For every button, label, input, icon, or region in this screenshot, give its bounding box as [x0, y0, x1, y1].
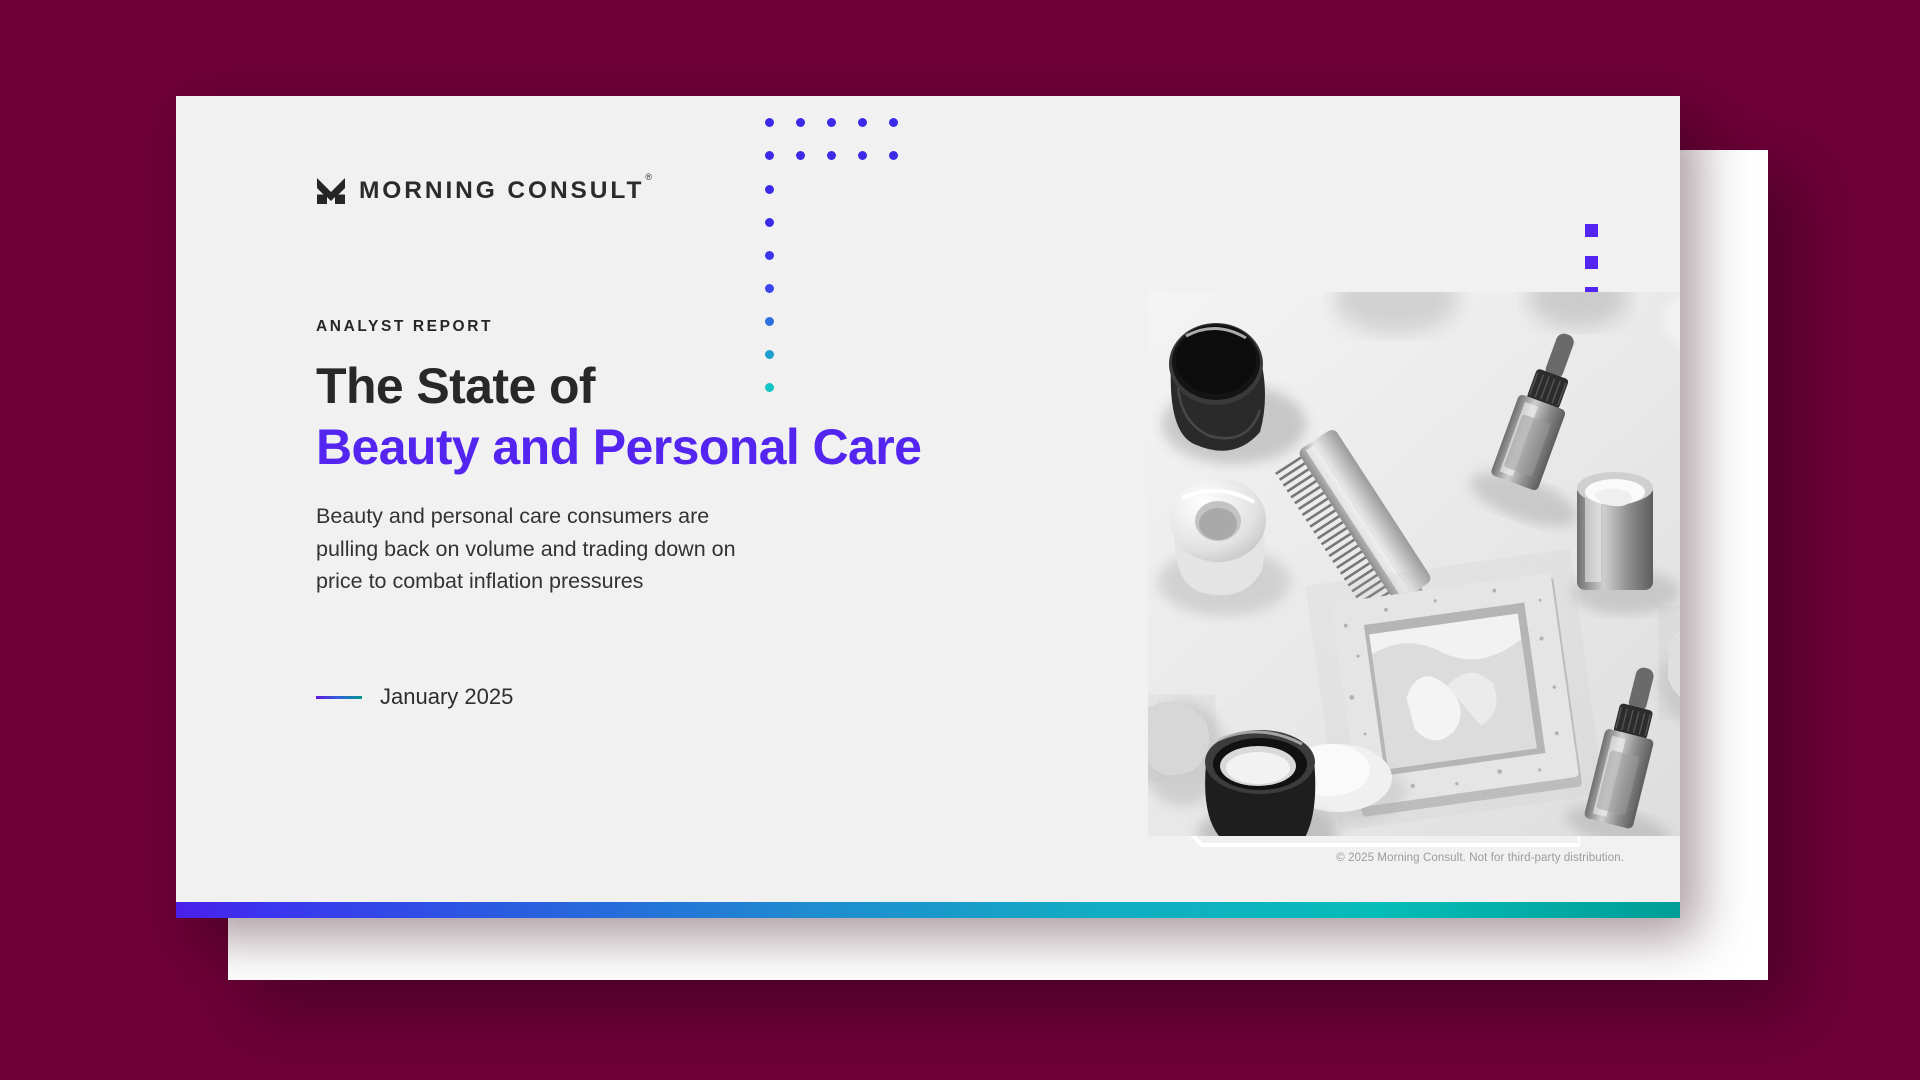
decor-dot	[889, 151, 898, 160]
decor-dot	[765, 185, 774, 194]
publication-date: January 2025	[316, 684, 956, 710]
decor-dot	[889, 118, 898, 127]
decor-dot	[765, 350, 774, 359]
left-content-column: MORNING CONSULT® ANALYST REPORT The Stat…	[316, 176, 956, 710]
decor-dot	[765, 218, 774, 227]
decor-square-2	[1585, 256, 1598, 269]
decor-dot	[827, 118, 836, 127]
copyright-notice: © 2025 Morning Consult. Not for third-pa…	[1336, 852, 1624, 864]
brand-logo[interactable]: MORNING CONSULT®	[316, 176, 956, 206]
decor-dot	[765, 118, 774, 127]
decor-dot	[765, 383, 774, 392]
decor-dot	[765, 284, 774, 293]
bottom-gradient-bar-icon	[176, 902, 1680, 918]
eyebrow-label: ANALYST REPORT	[316, 318, 956, 336]
morning-consult-chevron-mark-icon	[316, 176, 346, 206]
page-subtitle: Beauty and personal care consumers are p…	[316, 500, 746, 598]
publication-date-label: January 2025	[380, 684, 513, 710]
page-title-line1: The State of	[316, 358, 956, 415]
decor-dot	[796, 118, 805, 127]
gradient-dash-icon	[316, 696, 362, 699]
decor-dot	[765, 151, 774, 160]
cover-card: MORNING CONSULT® ANALYST REPORT The Stat…	[176, 96, 1680, 918]
cover-photo	[1148, 292, 1680, 836]
slide-stage: MORNING CONSULT® ANALYST REPORT The Stat…	[0, 0, 1920, 1080]
decor-dot	[858, 118, 867, 127]
decor-dot	[796, 151, 805, 160]
brand-logo-text: MORNING CONSULT®	[359, 179, 651, 204]
page-title-line2: Beauty and Personal Care	[316, 419, 956, 476]
decor-dot	[765, 317, 774, 326]
decor-dot	[765, 251, 774, 260]
decor-square-1	[1585, 224, 1598, 237]
decor-dot	[827, 151, 836, 160]
registered-trademark-icon: ®	[645, 172, 652, 182]
decor-dot	[858, 151, 867, 160]
